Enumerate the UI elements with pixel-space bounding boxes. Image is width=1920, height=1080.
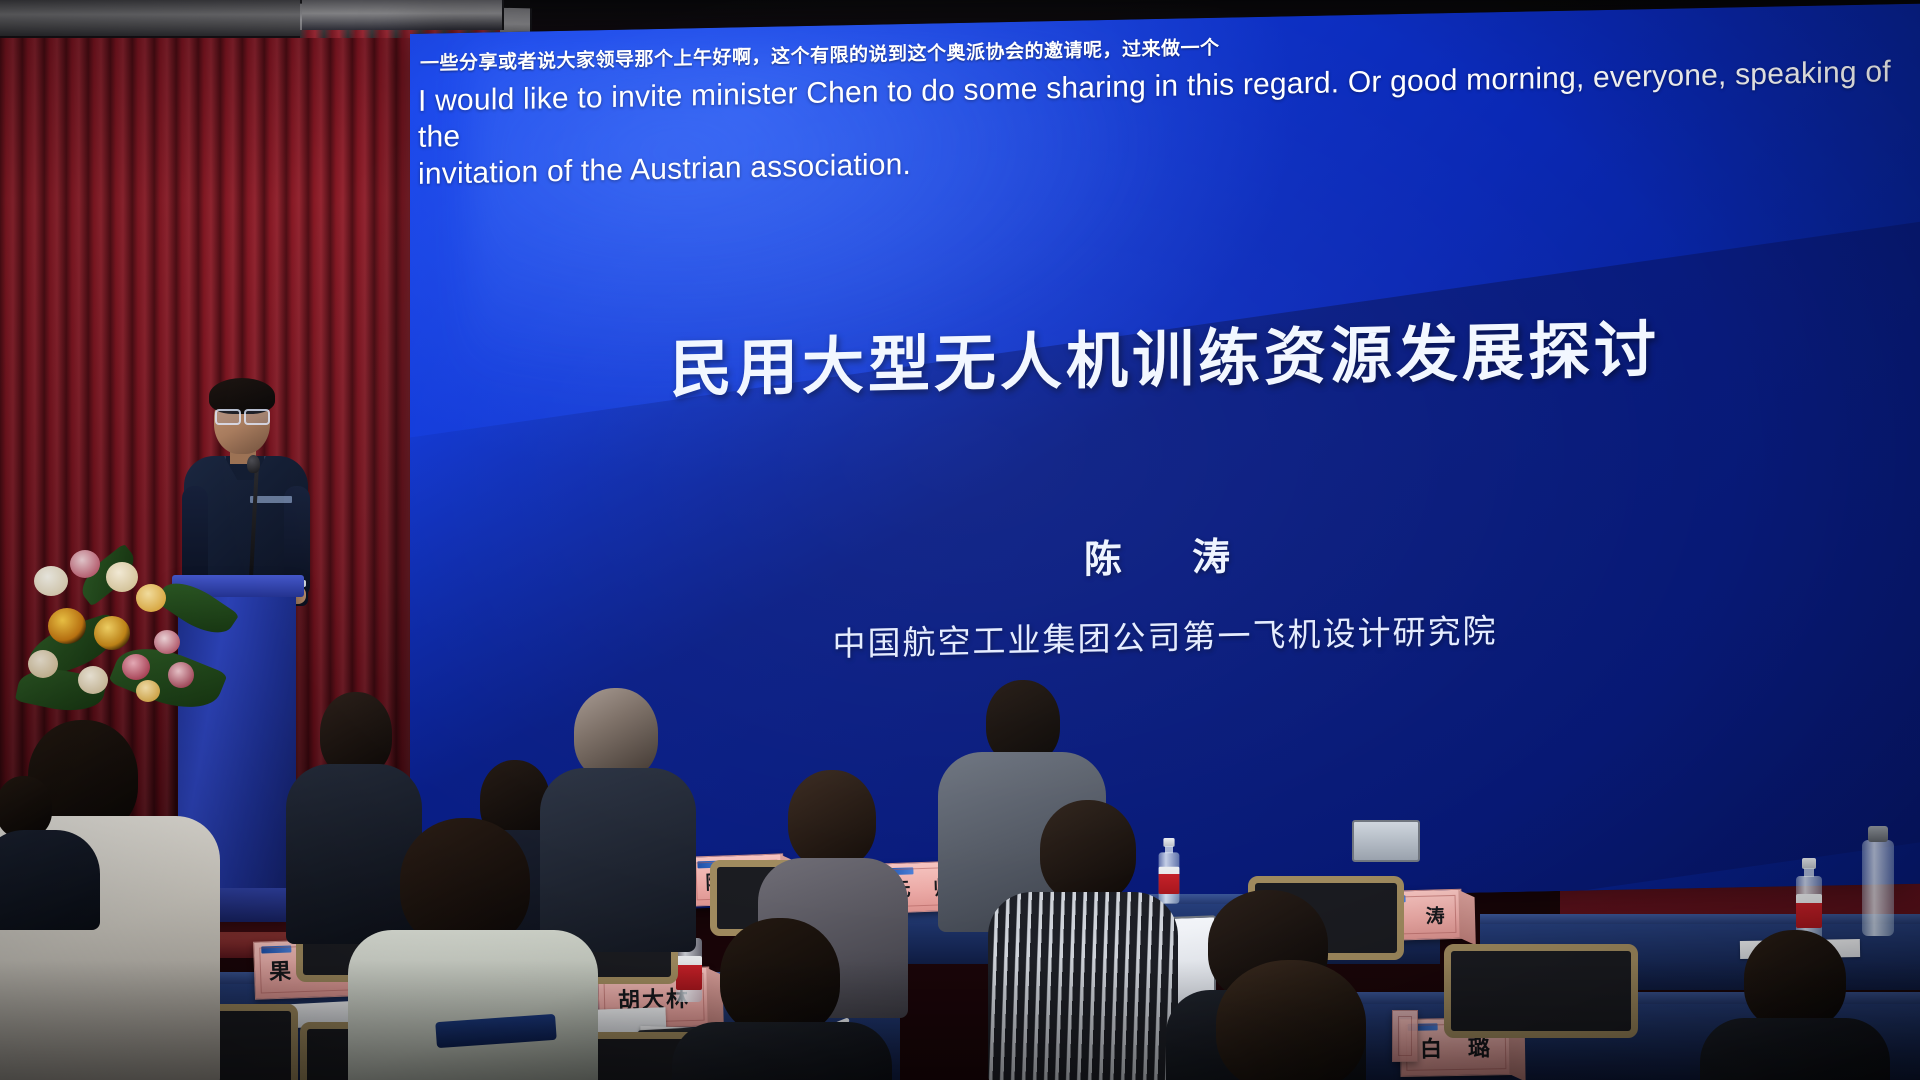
audience-head (1040, 800, 1136, 902)
ceiling-panel (302, 0, 504, 30)
flower-bloom (28, 650, 58, 678)
audience-torso (988, 892, 1178, 1080)
tall-bottle-cap (1868, 826, 1888, 842)
flower-bloom (34, 566, 68, 596)
caption-english: I would like to invite minister Chen to … (418, 53, 1918, 193)
audience-member (1700, 930, 1890, 1080)
audience-head (400, 818, 530, 948)
audience-head (720, 918, 840, 1036)
audience-head (1744, 930, 1846, 1030)
flower-bloom (136, 680, 160, 702)
conference-photo-scene: 一些分享或者说大家领导那个上午好啊，这个有限的说到这个奥派协会的邀请呢，过来做一… (0, 0, 1920, 1080)
audience-torso (672, 1022, 892, 1080)
audience-laptop-screen[interactable] (1352, 820, 1420, 862)
audience-head (0, 776, 52, 838)
flower-bloom (78, 666, 108, 694)
sunflower-bloom (48, 608, 86, 644)
sunflower-bloom (94, 616, 130, 650)
flower-bloom (154, 630, 180, 654)
audience-member (1162, 960, 1422, 1080)
audience-member (672, 918, 892, 1080)
audience-head (1216, 960, 1366, 1080)
stage-flower-arrangement (18, 530, 248, 745)
audience-torso (0, 830, 100, 930)
audience-member (988, 800, 1178, 1080)
audience-head (574, 688, 658, 780)
microphone-icon (247, 455, 260, 473)
flower-bloom (70, 550, 100, 578)
audience-head (788, 770, 876, 868)
audience-member (348, 818, 598, 1080)
ceiling-panel (0, 0, 302, 36)
flower-bloom (136, 584, 166, 612)
audience-member (0, 776, 100, 926)
flower-bloom (106, 562, 138, 592)
bottle-label (1796, 894, 1822, 928)
audience-chair (1444, 944, 1638, 1038)
flower-bloom (168, 662, 194, 688)
audience-table-edge (1480, 914, 1920, 924)
flower-bloom (122, 654, 150, 680)
audience-torso (348, 930, 598, 1080)
audience-torso (1700, 1018, 1890, 1080)
placard-side-face (1458, 890, 1475, 945)
live-caption-overlay: 一些分享或者说大家领导那个上午好啊，这个有限的说到这个奥派协会的邀请呢，过来做一… (418, 18, 1918, 204)
glasses-icon (214, 409, 272, 422)
tall-water-bottle (1862, 840, 1894, 936)
